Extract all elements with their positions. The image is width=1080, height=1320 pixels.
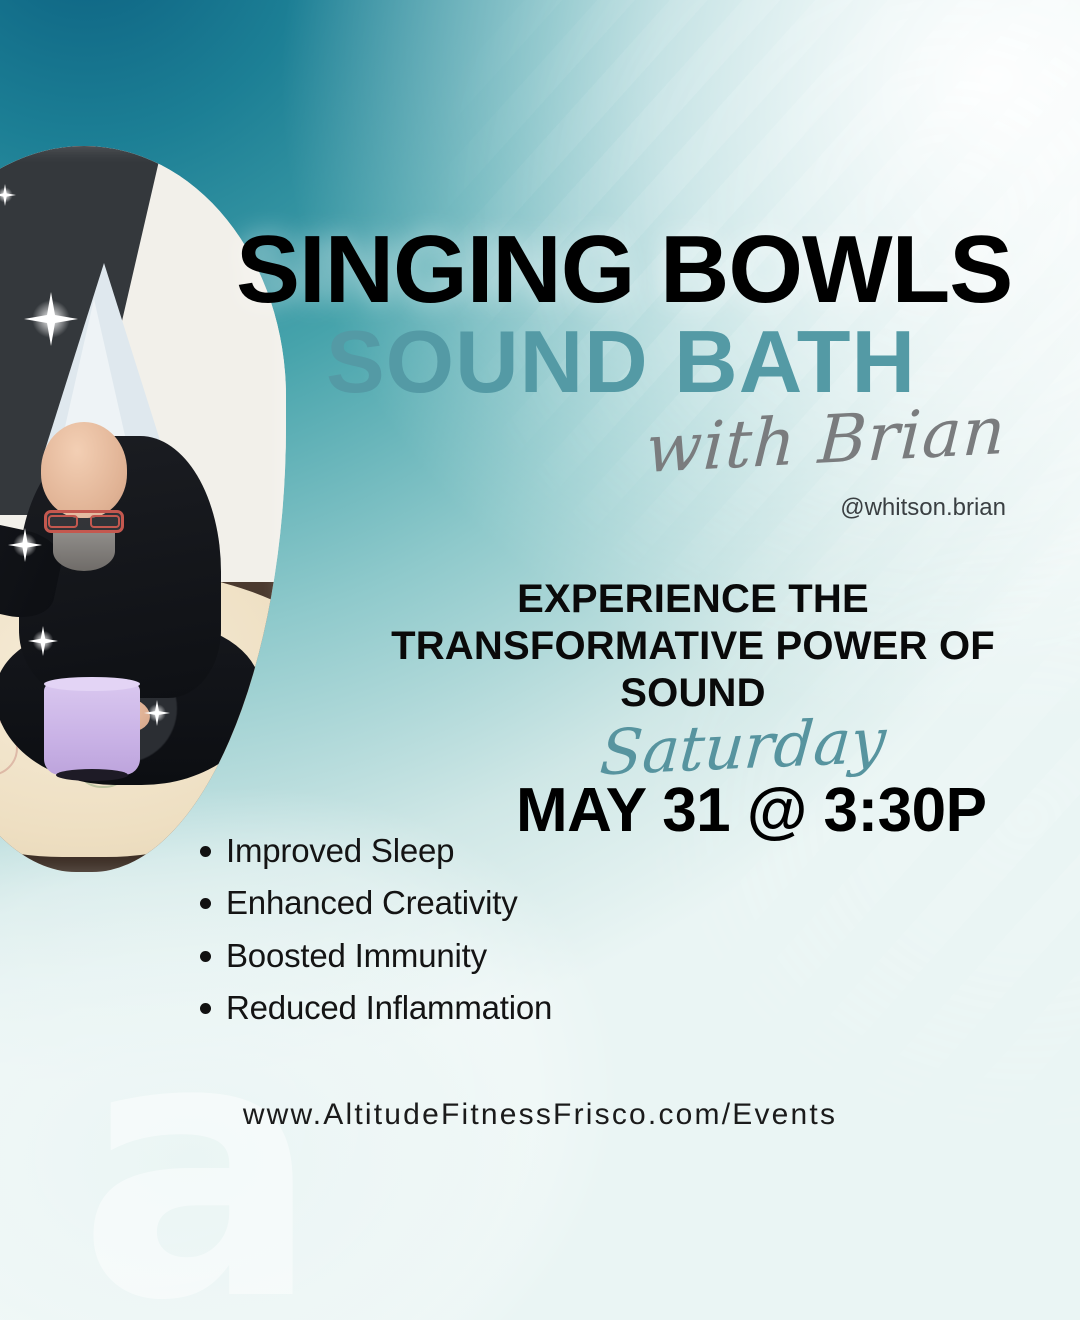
eyeglasses-icon	[44, 510, 124, 533]
event-flyer: a	[0, 0, 1080, 1320]
altitude-logo-watermark: a	[78, 1030, 307, 1311]
event-day-script: Saturday	[544, 707, 943, 786]
list-item: Boosted Immunity	[196, 937, 676, 975]
presenter-script-name: with Brian	[599, 398, 1008, 486]
person-head	[41, 422, 127, 518]
tagline-line-1: EXPERIENCE THE	[380, 576, 1006, 623]
list-item: Enhanced Creativity	[196, 884, 676, 922]
tagline: EXPERIENCE THE TRANSFORMATIVE POWER OF S…	[380, 576, 1006, 718]
singing-bowl-lavender	[44, 683, 140, 775]
person-beard	[53, 531, 115, 571]
instagram-handle: @whitson.brian	[640, 494, 1006, 522]
benefits-list: Improved Sleep Enhanced Creativity Boost…	[196, 832, 676, 1041]
list-item: Improved Sleep	[196, 832, 676, 870]
website-url[interactable]: www.AltitudeFitnessFrisco.com/Events	[170, 1098, 910, 1132]
tagline-line-2: TRANSFORMATIVE POWER OF SOUND	[380, 623, 1006, 717]
headline-line-2: SOUND BATH	[236, 318, 1006, 406]
headline-line-1: SINGING BOWLS	[236, 222, 1006, 318]
list-item: Reduced Inflammation	[196, 989, 676, 1027]
